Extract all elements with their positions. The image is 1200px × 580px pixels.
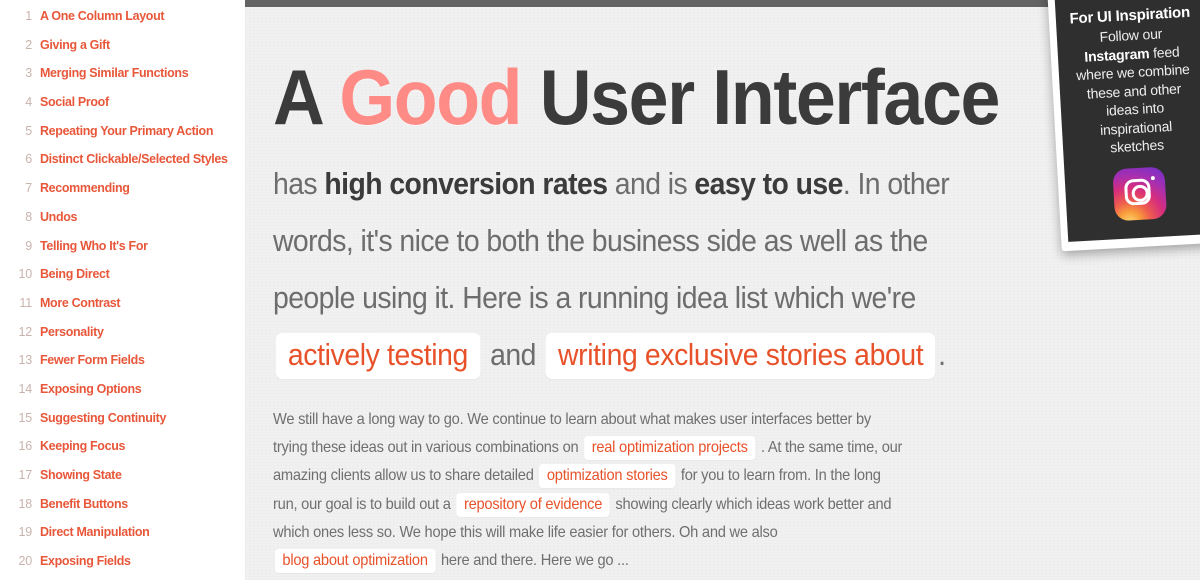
promo-card-frame: For UI Inspiration Follow our Instagram … bbox=[1046, 0, 1200, 251]
link-writing-exclusive-stories[interactable]: writing exclusive stories about bbox=[546, 333, 935, 379]
idea-label: Benefit Buttons bbox=[40, 496, 128, 511]
idea-number: 12 bbox=[10, 325, 32, 339]
idea-label: Repeating Your Primary Action bbox=[40, 123, 213, 138]
idea-number: 7 bbox=[10, 181, 32, 195]
sidebar-idea-item[interactable]: 16Keeping Focus bbox=[0, 438, 245, 467]
headline-part-2: User Interface bbox=[521, 53, 999, 141]
idea-label: Distinct Clickable/Selected Styles bbox=[40, 151, 228, 166]
deck-bold-1: high conversion rates bbox=[324, 167, 607, 201]
idea-label: More Contrast bbox=[40, 295, 120, 310]
article-content: A Good User Interface has high conversio… bbox=[273, 7, 1173, 576]
idea-label: Suggesting Continuity bbox=[40, 410, 166, 425]
headline-accent-word: Good bbox=[339, 53, 521, 141]
body-text-5: here and there. Here we go ... bbox=[437, 552, 629, 569]
deck-text-5: . bbox=[938, 338, 945, 372]
idea-label: Recommending bbox=[40, 180, 130, 195]
lead-paragraph: has high conversion rates and is easy to… bbox=[273, 134, 980, 384]
idea-number: 1 bbox=[10, 9, 32, 23]
idea-number: 5 bbox=[10, 124, 32, 138]
idea-number: 11 bbox=[10, 296, 32, 310]
idea-number: 2 bbox=[10, 38, 32, 52]
idea-label: Giving a Gift bbox=[40, 37, 110, 52]
link-real-optimization-projects[interactable]: real optimization projects bbox=[584, 436, 755, 460]
link-optimization-stories[interactable]: optimization stories bbox=[539, 464, 675, 488]
deck-text-1: has bbox=[273, 167, 324, 201]
deck-text-4: and bbox=[483, 338, 543, 372]
sidebar-idea-item[interactable]: 7Recommending bbox=[0, 180, 245, 209]
page-title: A Good User Interface bbox=[273, 7, 1101, 134]
main-content-panel: A Good User Interface has high conversio… bbox=[245, 0, 1200, 580]
idea-number: 4 bbox=[10, 95, 32, 109]
promo-line1-a: Follow our bbox=[1099, 25, 1162, 44]
ideas-sidebar: 1A One Column Layout2Giving a Gift3Mergi… bbox=[0, 0, 245, 580]
sidebar-idea-item[interactable]: 20Exposing Fields bbox=[0, 553, 245, 580]
idea-number: 17 bbox=[10, 468, 32, 482]
idea-label: Undos bbox=[40, 209, 77, 224]
sidebar-idea-item[interactable]: 2Giving a Gift bbox=[0, 37, 245, 66]
idea-label: A One Column Layout bbox=[40, 8, 164, 23]
idea-number: 20 bbox=[10, 554, 32, 568]
idea-label: Being Direct bbox=[40, 266, 109, 281]
sidebar-idea-item[interactable]: 10Being Direct bbox=[0, 266, 245, 295]
idea-number: 9 bbox=[10, 239, 32, 253]
idea-label: Exposing Fields bbox=[40, 553, 131, 568]
promo-card-inner: For UI Inspiration Follow our Instagram … bbox=[1054, 0, 1200, 241]
sidebar-idea-item[interactable]: 19Direct Manipulation bbox=[0, 524, 245, 553]
idea-number: 8 bbox=[10, 210, 32, 224]
idea-label: Direct Manipulation bbox=[40, 524, 149, 539]
idea-number: 18 bbox=[10, 497, 32, 511]
deck-bold-2: easy to use bbox=[694, 167, 842, 201]
page-root: 1A One Column Layout2Giving a Gift3Mergi… bbox=[0, 0, 1200, 580]
instagram-icon-dot bbox=[1151, 176, 1155, 180]
idea-number: 16 bbox=[10, 439, 32, 453]
link-actively-testing[interactable]: actively testing bbox=[276, 333, 480, 379]
idea-label: Personality bbox=[40, 324, 104, 339]
sidebar-idea-item[interactable]: 9Telling Who It's For bbox=[0, 238, 245, 267]
sidebar-idea-item[interactable]: 12Personality bbox=[0, 324, 245, 353]
sidebar-idea-item[interactable]: 3Merging Similar Functions bbox=[0, 65, 245, 94]
sidebar-idea-item[interactable]: 6Distinct Clickable/Selected Styles bbox=[0, 151, 245, 180]
sidebar-idea-item[interactable]: 17Showing State bbox=[0, 467, 245, 496]
promo-brand-name: Instagram bbox=[1084, 45, 1150, 65]
sidebar-idea-item[interactable]: 15Suggesting Continuity bbox=[0, 410, 245, 439]
sidebar-idea-item[interactable]: 14Exposing Options bbox=[0, 381, 245, 410]
sidebar-idea-item[interactable]: 11More Contrast bbox=[0, 295, 245, 324]
idea-number: 19 bbox=[10, 525, 32, 539]
promo-body: Follow our Instagram feed where we combi… bbox=[1066, 22, 1200, 159]
idea-number: 13 bbox=[10, 353, 32, 367]
link-blog-about-optimization[interactable]: blog about optimization bbox=[275, 549, 435, 573]
instagram-icon-lens bbox=[1131, 184, 1149, 202]
deck-text-2: and is bbox=[607, 167, 694, 201]
idea-number: 3 bbox=[10, 66, 32, 80]
idea-label: Telling Who It's For bbox=[40, 238, 148, 253]
sidebar-idea-item[interactable]: 5Repeating Your Primary Action bbox=[0, 123, 245, 152]
sidebar-idea-item[interactable]: 13Fewer Form Fields bbox=[0, 352, 245, 381]
idea-label: Keeping Focus bbox=[40, 438, 125, 453]
link-repository-of-evidence[interactable]: repository of evidence bbox=[456, 493, 609, 517]
idea-number: 14 bbox=[10, 382, 32, 396]
idea-number: 10 bbox=[10, 267, 32, 281]
body-paragraph: We still have a long way to go. We conti… bbox=[273, 384, 905, 576]
idea-number: 15 bbox=[10, 411, 32, 425]
instagram-promo-card[interactable]: For UI Inspiration Follow our Instagram … bbox=[1046, 0, 1200, 251]
idea-label: Exposing Options bbox=[40, 381, 141, 396]
sidebar-idea-item[interactable]: 18Benefit Buttons bbox=[0, 496, 245, 525]
sidebar-idea-item[interactable]: 1A One Column Layout bbox=[0, 8, 245, 37]
sidebar-idea-item[interactable]: 4Social Proof bbox=[0, 94, 245, 123]
idea-label: Merging Similar Functions bbox=[40, 65, 188, 80]
idea-label: Showing State bbox=[40, 467, 122, 482]
idea-number: 6 bbox=[10, 152, 32, 166]
instagram-icon[interactable] bbox=[1112, 166, 1167, 221]
idea-label: Fewer Form Fields bbox=[40, 352, 145, 367]
idea-label: Social Proof bbox=[40, 94, 109, 109]
headline-part-1: A bbox=[273, 53, 339, 141]
sidebar-idea-item[interactable]: 8Undos bbox=[0, 209, 245, 238]
